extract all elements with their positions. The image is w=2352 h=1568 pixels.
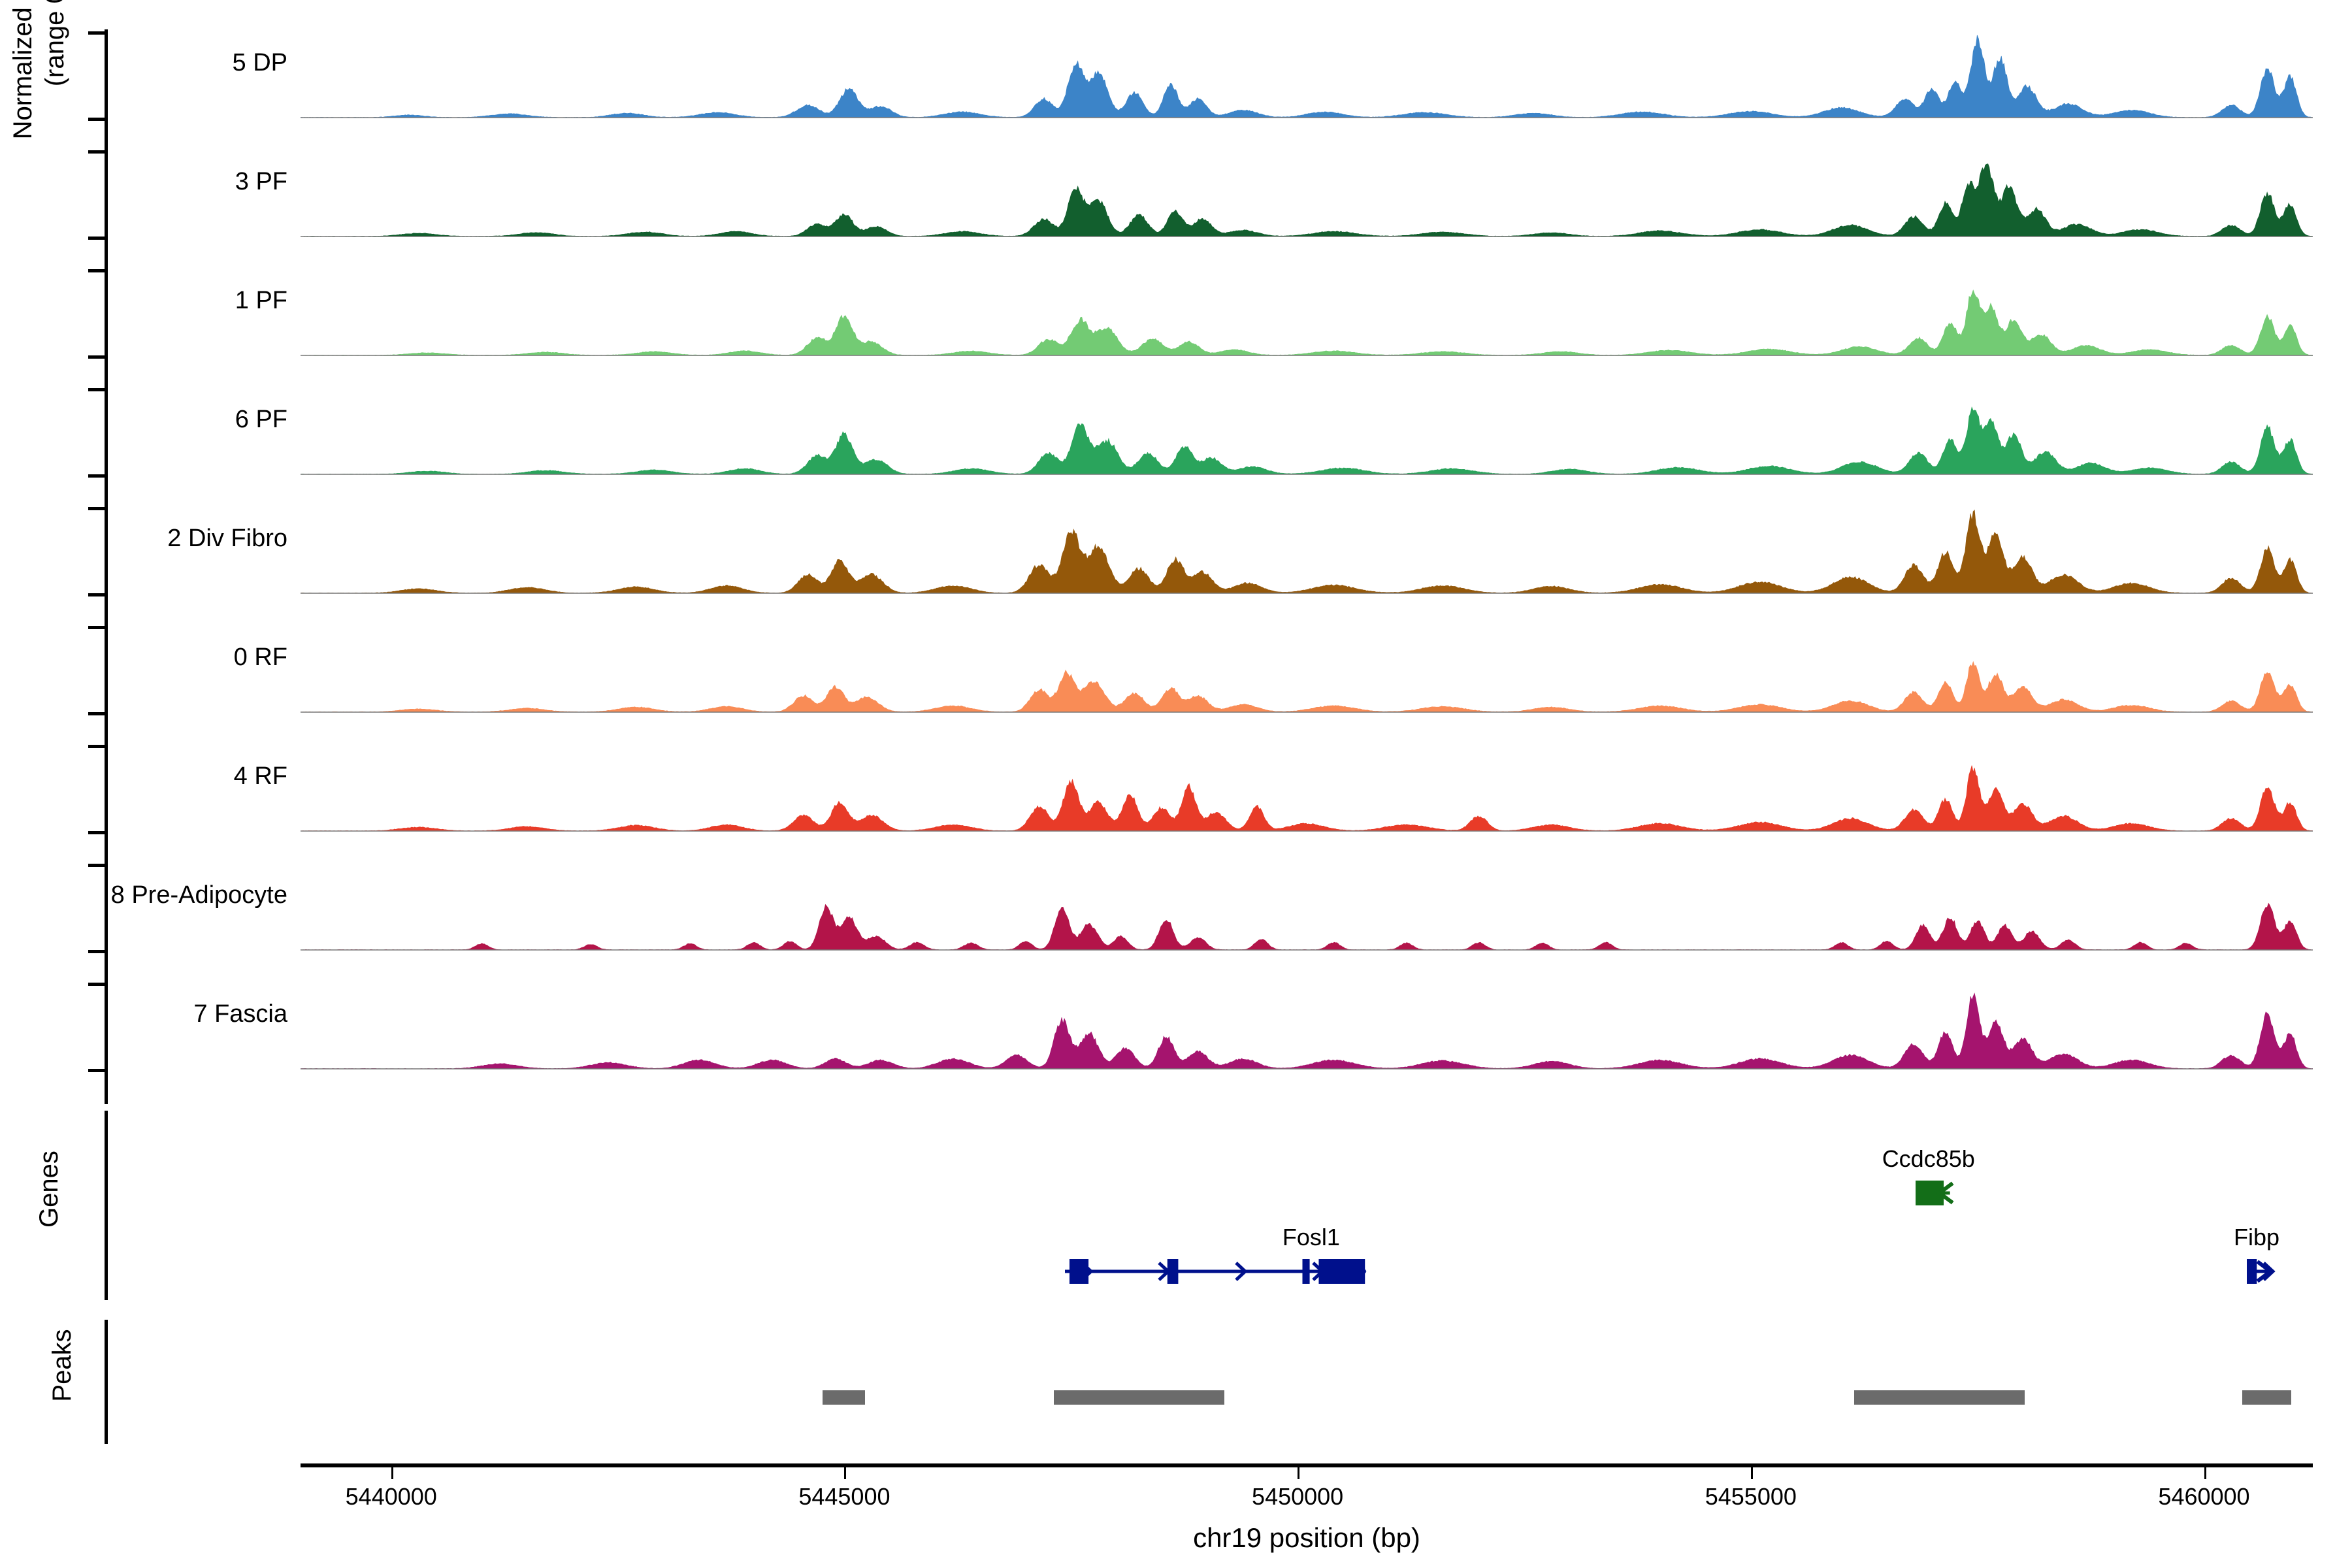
y-axis-tick [88,745,105,748]
signal-plot-0-rf [301,614,2313,712]
gene-model-ccdc85b[interactable] [1916,1179,1950,1207]
x-axis-tick [2204,1467,2206,1479]
y-axis-tick [88,355,105,359]
peaks-axis-line [105,1320,108,1444]
signal-plot-7-fascia [301,971,2313,1069]
y-axis-tick [88,474,105,478]
y-axis-tick [88,1069,105,1072]
y-axis-tick [88,712,105,715]
x-axis-tick-label: 5450000 [1252,1483,1343,1511]
signal-plot-5-dp [301,20,2313,118]
track-label-7-fascia: 7 Fascia [0,1000,287,1028]
gene-model-fibp[interactable] [2247,1258,2273,1285]
y-axis-tick [88,626,105,629]
track-label-3-pf: 3 PF [0,168,287,196]
peaks-panel-label: Peaks [42,1290,82,1441]
y-axis-tick [88,831,105,834]
y-axis-tick [88,388,105,391]
x-axis-tick [1298,1467,1299,1479]
gene-model-fosl1[interactable] [1065,1258,1366,1285]
gene-label-fosl1: Fosl1 [1282,1224,1340,1251]
track-label-4-rf: 4 RF [0,762,287,791]
y-axis-tick [88,950,105,953]
track-label-8-pre-adipocyte: 8 Pre-Adipocyte [0,881,287,909]
y-axis-tick [88,983,105,986]
track-label-6-pf: 6 PF [0,406,287,434]
x-axis-tick-label: 5445000 [798,1483,890,1511]
x-axis-tick [844,1467,846,1479]
x-axis-line [301,1463,2313,1467]
peak-region[interactable] [823,1390,865,1405]
signal-plot-1-pf [301,257,2313,355]
gene-label-fibp: Fibp [2234,1224,2279,1251]
y-axis-tick [88,118,105,121]
track-label-2-div-fibro: 2 Div Fibro [0,525,287,553]
track-label-0-rf: 0 RF [0,644,287,672]
y-axis-tick [88,150,105,154]
x-axis-tick-label: 5460000 [2158,1483,2249,1511]
track-label-1-pf: 1 PF [0,287,287,315]
x-axis-tick [1751,1467,1753,1479]
x-axis-tick [391,1467,393,1479]
gene-label-ccdc85b: Ccdc85b [1882,1145,1975,1173]
signal-plot-3-pf [301,139,2313,237]
y-axis-tick [88,31,105,35]
signal-plot-4-rf [301,733,2313,831]
y-axis-tick [88,269,105,272]
y-axis-tick [88,593,105,596]
y-axis-tick [88,507,105,510]
y-axis-tick [88,237,105,240]
y-axis-tick [88,864,105,867]
x-axis-tick-label: 5440000 [346,1483,437,1511]
signal-plot-8-pre-adipocyte [301,852,2313,950]
peak-region[interactable] [2242,1390,2291,1405]
genes-panel-label: Genes [29,1104,69,1274]
peak-region[interactable] [1854,1390,2025,1405]
genes-axis-line [105,1111,108,1300]
x-axis-title: chr19 position (bp) [301,1522,2313,1554]
y-axis-label: Normalized accessibility (range 0 - 160) [0,0,78,274]
x-axis-tick-label: 5455000 [1705,1483,1797,1511]
track-label-5-dp: 5 DP [0,49,287,77]
signal-plot-6-pf [301,376,2313,474]
signal-plot-2-div-fibro [301,495,2313,593]
peak-region[interactable] [1054,1390,1224,1405]
